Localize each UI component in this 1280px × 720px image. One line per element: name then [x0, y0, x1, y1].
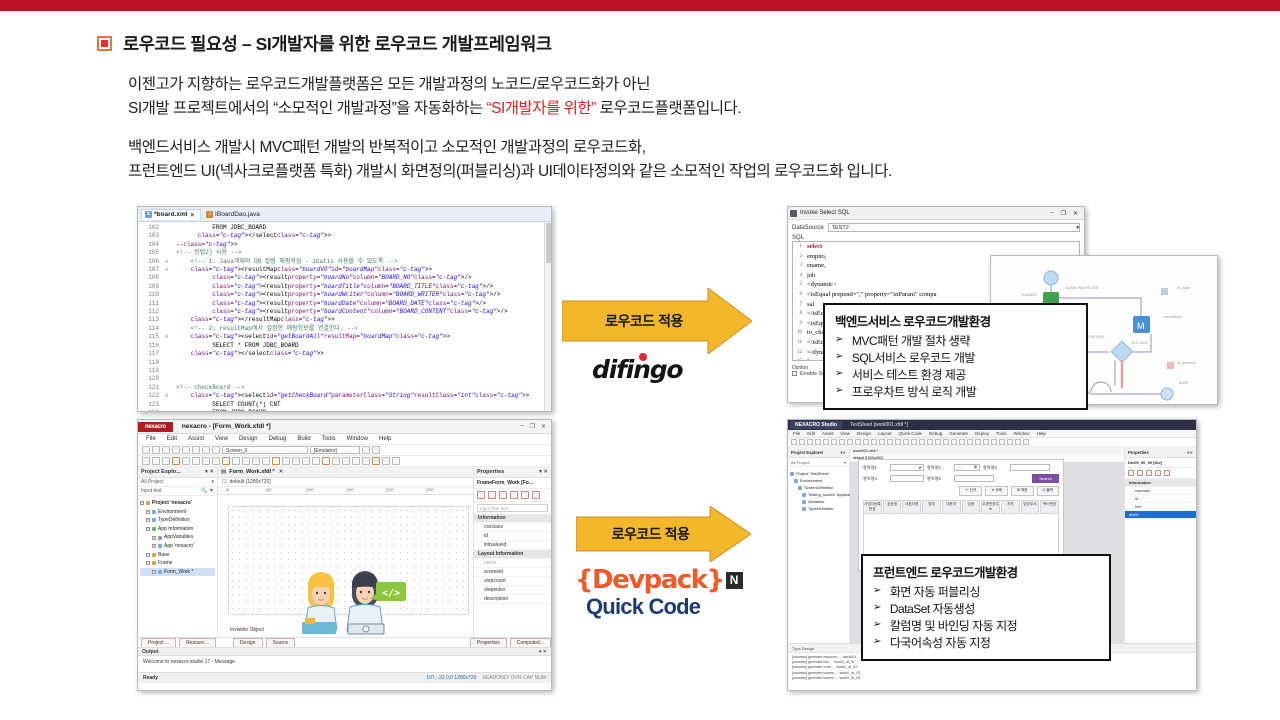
arrow-bullet-icon: ➢ — [835, 367, 843, 384]
component-tool-icon[interactable] — [302, 457, 310, 465]
cut-icon[interactable] — [192, 446, 200, 454]
code-line: 102 FROM JDBC_BOARD — [138, 224, 551, 232]
studio-tool-icon[interactable] — [1015, 439, 1021, 445]
panel-close-icon[interactable]: ▾ ✕ — [205, 469, 214, 475]
menu-item-debug[interactable]: Debug — [269, 436, 287, 442]
callout-item: ➢프로우차트 방식 로직 개발 — [835, 384, 1076, 401]
xml-code-area[interactable]: 102 FROM JDBC_BOARD103 class="c-tag"></s… — [138, 222, 551, 412]
intro-line-2-b: 로우코드플랫폼입니다. — [596, 100, 741, 117]
nexacro-menubar[interactable]: FileEditAssistViewDesignDebugBuildToolsW… — [138, 434, 551, 445]
studio-tool-icon[interactable] — [815, 439, 821, 445]
project-explorer-header: Project Explo... ▾ ✕ — [138, 467, 217, 478]
studio-tool-icon[interactable] — [951, 439, 957, 445]
ruler-mark: |150 — [346, 487, 354, 492]
studio-properties-header: Properties▾✕ — [1125, 447, 1196, 458]
devpack-n-badge: N — [726, 572, 743, 589]
paste-icon[interactable] — [212, 446, 220, 454]
callout-item: ➢다국어속성 자동 지정 — [873, 635, 1099, 652]
property-row[interactable]: screenid — [474, 568, 551, 577]
studio-property-row[interactable]: Information — [1125, 479, 1196, 487]
tab-type-design[interactable]: Type Design — [792, 646, 814, 651]
studio-tool-icon[interactable] — [887, 439, 893, 445]
svg-text:BASE: BASE — [1179, 381, 1189, 385]
delete-icon[interactable] — [532, 491, 540, 499]
tree-item-label: Base — [158, 551, 169, 560]
property-group[interactable]: Information — [474, 514, 551, 523]
chevron-down-icon: ▾ — [844, 458, 846, 466]
editor-scrollbar[interactable] — [544, 222, 551, 412]
tree-item[interactable]: +App 'nexacro' — [140, 542, 215, 551]
form-row-1: 항목명1 ▾ 항목명2 -･-▥ 항목명3 — [863, 464, 1059, 471]
component-tool-icon[interactable] — [382, 457, 390, 465]
form-action-button[interactable]: ✕ 삭제 — [985, 486, 1008, 496]
frontend-callout-title: 프런트엔드 로우코드개발환경 — [873, 562, 1099, 581]
studio-properties-list[interactable]: Informationcssclassidtextdiv00 — [1125, 479, 1196, 519]
editor-tab-label: IBoardDao.java — [215, 211, 260, 218]
redo-icon[interactable] — [182, 446, 190, 454]
copy-icon[interactable] — [510, 491, 518, 499]
studio-tree-item[interactable]: TypeDefinition — [790, 505, 847, 512]
save-icon[interactable] — [152, 446, 160, 454]
nexacro-studio-screenshot: nexacro nexacro - [Form_Work.xfdl *] – ❐… — [137, 419, 552, 691]
studio-menu-item[interactable]: File — [793, 431, 800, 436]
studio-properties-toolbar[interactable] — [1125, 468, 1196, 479]
project-filter[interactable]: All Project▾ — [138, 478, 217, 487]
editor-tab-board-xml[interactable]: x *board.xml ✕ — [141, 209, 201, 220]
arrow-bullet-icon: ➢ — [835, 350, 843, 367]
studio-tool-icon[interactable] — [895, 439, 901, 445]
nexacro-toolbar-1[interactable]: Screen_0 [Emulator] — [138, 445, 551, 456]
property-row[interactable]: cssclass — [474, 523, 551, 532]
nexacro-window-title: nexacro - [Form_Work.xfdl *] — [182, 423, 271, 430]
ruler-mark: |50 — [266, 487, 272, 492]
screen-combo[interactable]: Screen_0 — [222, 446, 308, 454]
properties-panel: Properties ▾ ✕ FrameForm_Work [Fo… Input… — [473, 467, 551, 637]
panel-close-icon[interactable]: ▾✕ — [1187, 450, 1193, 455]
code-line: 118 — [138, 359, 551, 367]
lowcode-arrow-top: 로우코드 적용 — [562, 288, 752, 354]
tab-properties[interactable]: Properties — [470, 638, 507, 647]
studio-menu-item[interactable]: View — [840, 431, 850, 436]
code-line: 112 class="c-tag"><result property="boar… — [138, 308, 551, 316]
grid-column-header[interactable]: 담당부서 — [1021, 500, 1040, 514]
studio-tool-icon[interactable] — [823, 439, 829, 445]
difingo-wordmark: difingo — [592, 355, 682, 384]
studio-tool-icon[interactable] — [1023, 439, 1029, 445]
component-tool-icon[interactable] — [192, 457, 200, 465]
component-tool-icon[interactable] — [292, 457, 300, 465]
layout-icon[interactable] — [499, 491, 507, 499]
status-bar: Ready 107, -22 0,0 1280x720 READONLY OVR… — [138, 672, 551, 683]
property-row[interactable]: stepindex — [474, 586, 551, 595]
datasource-select[interactable]: TEST2 ▾ — [828, 223, 1080, 232]
ruler-mark: |200 — [386, 487, 394, 492]
svg-text:userAttribute: userAttribute — [1163, 315, 1182, 319]
code-line: 105 <!-- 방법2) 사용 --> — [138, 249, 551, 257]
tab-computed[interactable]: Computed... — [510, 638, 551, 647]
form-icon: ▤ — [221, 469, 226, 475]
code-line: 119 — [138, 367, 551, 375]
ruler-mark: |250 — [426, 487, 434, 492]
tree-item[interactable]: +App Information — [140, 525, 215, 534]
zoom-icon[interactable] — [372, 446, 380, 454]
properties-list[interactable]: InformationcssclassidinitvalueidLayout I… — [474, 514, 551, 604]
component-tool-icon[interactable] — [282, 457, 290, 465]
studio-property-row[interactable]: cssclass — [1125, 487, 1196, 495]
component-tool-icon[interactable] — [202, 457, 210, 465]
component-tool-icon[interactable] — [372, 457, 380, 465]
properties-toolbar[interactable] — [474, 489, 551, 502]
studio-tool-icon[interactable] — [927, 439, 933, 445]
intro-line-2: SI개발 프로젝트에서의 “소모적인 개발과정”을 자동화하는 “SI개발자를 … — [128, 97, 741, 121]
studio-tool-icon[interactable] — [919, 439, 925, 445]
component-tool-icon[interactable] — [222, 457, 230, 465]
studio-tool-icon[interactable] — [943, 439, 949, 445]
code-line: 109 class="c-tag"><result property="boar… — [138, 283, 551, 291]
studio-tool-icon[interactable] — [991, 439, 997, 445]
window-controls[interactable]: – ❐ ✕ — [520, 423, 551, 430]
sort-alpha-icon[interactable] — [488, 491, 496, 499]
tree-item-label: App 'nexacro' — [164, 542, 194, 551]
studio-tool-icon[interactable] — [903, 439, 909, 445]
grid-column-header[interactable]: 사업자등록번호 — [863, 500, 882, 514]
tab-close-icon[interactable]: ✕ — [190, 211, 195, 219]
svg-text:IN_base: IN_base — [1177, 286, 1190, 290]
tree-item-label: AppVariables — [164, 533, 193, 542]
studio-logo: NEXACRO Studio — [790, 421, 842, 429]
studio-tool-icon[interactable] — [999, 439, 1005, 445]
reset-icon[interactable] — [521, 491, 529, 499]
component-tool-icon[interactable] — [252, 457, 260, 465]
studio-tool-icon[interactable] — [983, 439, 989, 445]
backend-callout-list: ➢MVC패턴 개발 절차 생략➢SQL서비스 로우코드 개발➢서비스 테스트 환… — [835, 333, 1076, 401]
chevron-down-icon: ▾ — [211, 478, 214, 486]
studio-tool-icon[interactable] — [799, 439, 805, 445]
grid-column-header[interactable]: 대표자 — [942, 500, 961, 514]
callout-item-label: 다국어속성 자동 지정 — [890, 635, 991, 652]
property-group[interactable]: Layout Information — [474, 550, 551, 559]
maximize-icon[interactable]: ❐ — [530, 423, 535, 430]
menu-item-design[interactable]: Design — [239, 436, 258, 442]
svg-text:</>: </> — [382, 588, 400, 599]
tree-item[interactable]: +Environment — [140, 508, 215, 517]
project-tree[interactable]: +Project 'nexacro'+Environment+TypeDefin… — [138, 496, 217, 579]
grid-column-header[interactable]: 지역 — [1001, 500, 1020, 514]
field-date[interactable]: -･-▥ — [954, 464, 980, 471]
form-action-button[interactable]: 🖫 저장 — [1011, 486, 1034, 496]
code-line: 108 class="c-tag"><result property="boar… — [138, 274, 551, 282]
code-line: 122⊖ class="c-tag"><select id="getCheckB… — [138, 392, 551, 400]
grid-column-header[interactable]: 대표자명 — [902, 500, 921, 514]
property-row[interactable]: name — [474, 559, 551, 568]
canvas-tab[interactable]: ▤ Form_Work.xfdl * ✕ — [218, 467, 473, 478]
code-line: 113 class="c-tag"></resultMapclass="c-ta… — [138, 316, 551, 324]
code-line: 121 <!-- checkBoard --> — [138, 384, 551, 392]
field-label: 항목명2 — [927, 465, 951, 471]
studio-tool-icon[interactable] — [935, 439, 941, 445]
studio-menu-item[interactable]: Generate — [949, 431, 968, 436]
studio-canvas-tab[interactable]: work001.xfdl * — [850, 447, 1124, 455]
component-tool-icon[interactable] — [342, 457, 350, 465]
field-label: 항목명5 — [927, 476, 951, 482]
svg-text:PLANNED: PLANNED — [1021, 293, 1038, 297]
grid-column-header[interactable]: 업종 — [962, 500, 981, 514]
copy-icon[interactable] — [1155, 470, 1161, 476]
code-line: 107⊖ class="c-tag"><resultMap class="boa… — [138, 266, 551, 274]
studio-menu-item[interactable]: Debug — [929, 431, 942, 436]
editor-tab-iboarddao-java[interactable]: J IBoardDao.java — [203, 210, 265, 219]
panel-close-icon[interactable]: ▾✕ — [840, 450, 846, 455]
emulator-combo[interactable]: [Emulator] — [310, 446, 360, 454]
property-row[interactable]: id — [474, 532, 551, 541]
studio-property-value[interactable]: div00 — [1125, 511, 1196, 519]
code-line: 124 FROM JDBC_BOARD — [138, 409, 551, 412]
studio-tool-icon[interactable] — [855, 439, 861, 445]
studio-tool-icon[interactable] — [807, 439, 813, 445]
close-icon[interactable]: ✕ — [541, 423, 546, 430]
detail-paragraph: 백엔드서비스 개발시 MVC패턴 개발의 반복적이고 소모적인 개발과정의 로우… — [128, 136, 892, 184]
component-tool-icon[interactable] — [392, 457, 400, 465]
component-tool-icon[interactable] — [142, 457, 150, 465]
tab-resource[interactable]: Resourc... — [179, 638, 216, 647]
data-grid-header: 사업자등록번호상호명대표자명업태대표자업종우편번호주소지역담당부서팩스번호 — [863, 500, 1059, 514]
studio-menu-item[interactable]: Deploy — [975, 431, 989, 436]
callout-item: ➢SQL서비스 로우코드 개발 — [835, 350, 1076, 367]
intro-paragraph: 이젠고가 지향하는 로우코드개발플랫폼은 모든 개발과정의 노코드/로우코드화가… — [128, 73, 741, 121]
layout-icon[interactable] — [1146, 470, 1152, 476]
devpack-logo: {Devpack} N — [575, 565, 743, 595]
studio-window-title: TestSheet [work001.xfdl *] — [850, 422, 908, 428]
form-action-button[interactable]: ⎙ 출력 — [1037, 486, 1060, 496]
menu-item-build[interactable]: Build — [297, 436, 310, 442]
callout-item-label: SQL서비스 로우코드 개발 — [852, 350, 975, 367]
menu-item-view[interactable]: View — [215, 436, 228, 442]
code-line: 103 class="c-tag"></selectclass="c-tag">… — [138, 232, 551, 240]
component-tool-icon[interactable] — [352, 457, 360, 465]
studio-menu-item[interactable]: Window — [1014, 431, 1030, 436]
grid-column-header[interactable]: 우편번호주소 — [981, 500, 1000, 514]
arrow-bullet-icon: ➢ — [835, 333, 843, 350]
menu-item-help[interactable]: Help — [379, 436, 391, 442]
properties-title: Properties — [477, 469, 504, 475]
studio-property-row[interactable]: id — [1125, 495, 1196, 503]
status-coordinates: 107, -22 0,0 1280x720 — [426, 675, 476, 681]
tree-item[interactable]: +Form_Work * — [140, 568, 215, 577]
callout-item: ➢칼럼명 및 바인딩 자동 지정 — [873, 618, 1099, 635]
component-tool-icon[interactable] — [312, 457, 320, 465]
menu-item-edit[interactable]: Edit — [167, 436, 177, 442]
undo-icon[interactable] — [172, 446, 180, 454]
form-action-buttons[interactable]: ＋ 신규✕ 삭제🖫 저장⎙ 출력 — [863, 486, 1059, 496]
intro-line-1: 이젠고가 지향하는 로우코드개발플랫폼은 모든 개발과정의 노코드/로우코드화가… — [128, 73, 741, 97]
menu-item-file[interactable]: File — [146, 436, 156, 442]
sort-category-icon[interactable] — [477, 491, 485, 499]
open-icon[interactable] — [142, 446, 150, 454]
studio-tool-icon[interactable] — [839, 439, 845, 445]
field-text[interactable] — [954, 475, 994, 482]
studio-tool-icon[interactable] — [1007, 439, 1013, 445]
code-line: 120 — [138, 375, 551, 383]
invisible-object-label: Invisible Object — [230, 627, 264, 633]
studio-titlebar: NEXACRO Studio TestSheet [work001.xfdl *… — [788, 420, 1196, 430]
code-line: 115⊖ class="c-tag"><select id="getBoardA… — [138, 333, 551, 341]
component-tool-icon[interactable] — [212, 457, 220, 465]
studio-tool-icon[interactable] — [791, 439, 797, 445]
component-tool-icon[interactable] — [182, 457, 190, 465]
studio-menu-item[interactable]: Design — [857, 431, 871, 436]
properties-header: Properties ▾ ✕ — [474, 467, 551, 478]
project-search-input[interactable]: Input text🔍 ▼ — [138, 487, 217, 496]
field-label: 항목명3 — [983, 465, 1007, 471]
component-tool-icon[interactable] — [362, 457, 370, 465]
component-tool-icon[interactable] — [322, 457, 330, 465]
ruler-mark: |0 — [226, 487, 229, 492]
output-panel-header: Output ▾ ✕ — [138, 647, 551, 656]
search-button[interactable]: Search — [1032, 474, 1059, 483]
tree-item[interactable]: +Frame — [140, 559, 215, 568]
arrow-bullet-icon: ➢ — [835, 384, 843, 401]
backend-callout: 백엔드서비스 로우코드개발환경 ➢MVC패턴 개발 절차 생략➢SQL서비스 로… — [823, 303, 1088, 410]
studio-project-explorer: Project Explorer▾✕ All Project▾ Project … — [788, 447, 850, 643]
maximize-icon[interactable]: ❐ — [1061, 210, 1066, 217]
studio-menu-item[interactable]: Tools — [996, 431, 1007, 436]
tree-item[interactable]: +AppVariables — [140, 533, 215, 542]
nexacro-toolbar-2[interactable] — [138, 456, 551, 467]
studio-menu-item[interactable]: Edit — [807, 431, 815, 436]
grid-column-header[interactable]: 상호명 — [883, 500, 902, 514]
component-tool-icon[interactable] — [152, 457, 160, 465]
field-text[interactable] — [890, 475, 924, 482]
tab-design[interactable]: Design — [233, 638, 263, 647]
property-row[interactable]: stepcount — [474, 577, 551, 586]
sort-alpha-icon[interactable] — [1137, 470, 1143, 476]
menu-item-assist[interactable]: Assist — [188, 436, 204, 442]
studio-tool-icon[interactable] — [967, 439, 973, 445]
code-line: 104 --class="c-tag">> — [138, 241, 551, 249]
code-line: 117 class="c-tag"></selectclass="c-tag">… — [138, 350, 551, 358]
grid-column-header[interactable]: 팩스번호 — [1040, 500, 1059, 514]
studio-toolbar[interactable] — [788, 438, 1196, 447]
property-row[interactable]: initvalueid — [474, 541, 551, 550]
sort-category-icon[interactable] — [1128, 470, 1134, 476]
studio-tool-icon[interactable] — [871, 439, 877, 445]
component-tool-icon[interactable] — [232, 457, 240, 465]
arrow-bullet-icon: ➢ — [873, 618, 881, 635]
field-text[interactable] — [1010, 464, 1050, 471]
studio-tree-item[interactable]: Testing_screen 'Application_Dev' — [790, 491, 847, 498]
callout-item-label: 서비스 테스트 환경 제공 — [852, 367, 966, 384]
arrow-bullet-icon: ➢ — [873, 601, 881, 618]
studio-tree-item[interactable]: ScreenDefinition — [790, 484, 847, 491]
studio-project-filter[interactable]: All Project▾ — [788, 458, 849, 467]
panel-close-icon[interactable]: ▾ ✕ — [539, 469, 548, 475]
studio-tree-item[interactable]: Project 'TestSheet' — [790, 470, 847, 477]
app-icon — [790, 210, 797, 217]
studio-project-tree[interactable]: Project 'TestSheet'EnvironmentScreenDefi… — [788, 467, 849, 515]
component-tool-icon[interactable] — [172, 457, 180, 465]
studio-tool-icon[interactable] — [959, 439, 965, 445]
callout-item-label: 칼럼명 및 바인딩 자동 지정 — [890, 618, 1017, 635]
callout-item-label: 프로우차트 방식 로직 개발 — [852, 384, 976, 401]
svg-text:ADMIN PATHFILIJDE: ADMIN PATHFILIJDE — [1066, 286, 1099, 290]
calendar-icon: ▥ — [974, 465, 977, 470]
reset-icon[interactable] — [1164, 470, 1170, 476]
form-action-button[interactable]: ＋ 신규 — [959, 486, 982, 496]
field-select[interactable]: ▾ — [890, 464, 924, 471]
menu-item-tools[interactable]: Tools — [322, 436, 336, 442]
studio-menu-item[interactable]: Layout — [878, 431, 892, 436]
callout-item: ➢화면 자동 퍼블리싱 — [873, 584, 1099, 601]
component-tool-icon[interactable] — [272, 457, 280, 465]
studio-tool-icon[interactable] — [975, 439, 981, 445]
ruler-mark: |100 — [306, 487, 314, 492]
tab-close-icon[interactable]: ✕ — [279, 469, 284, 475]
panel-close-icon[interactable]: ▾ ✕ — [539, 648, 547, 655]
studio-tool-icon[interactable] — [847, 439, 853, 445]
tree-item[interactable]: +Project 'nexacro' — [140, 499, 215, 508]
studio-menu-item[interactable]: Quick Code — [899, 431, 923, 436]
studio-menu-item[interactable]: Help — [1037, 431, 1046, 436]
studio-tool-icon[interactable] — [879, 439, 885, 445]
status-ready: Ready — [143, 675, 158, 681]
studio-tool-icon[interactable] — [831, 439, 837, 445]
editor-tab-label: *board.xml — [154, 211, 188, 218]
difingo-dot-icon — [639, 353, 647, 361]
studio-menubar[interactable]: FileEditAssetViewDesignLayoutQuick CodeD… — [788, 430, 1196, 438]
component-tool-icon[interactable] — [332, 457, 340, 465]
studio-tool-icon[interactable] — [863, 439, 869, 445]
illustration-woman — [302, 572, 337, 634]
code-line: 106⊖ <!-- 1. Java객체와 DB 칼럼 매핑작업 - ibatis… — [138, 258, 551, 266]
studio-menu-item[interactable]: Asset — [822, 431, 833, 436]
tree-item-label: Form_Work * — [164, 568, 193, 577]
tree-item[interactable]: +Base — [140, 551, 215, 560]
studio-tree-item[interactable]: Environment — [790, 477, 847, 484]
minimize-icon[interactable]: – — [520, 423, 523, 430]
run-icon[interactable] — [362, 446, 370, 454]
sql-dialog-title: Invoke Select SQL — [800, 210, 1050, 216]
window-controls[interactable]: – ❐ ✕ — [1050, 210, 1082, 217]
search-icon: 🔍 ▼ — [201, 487, 214, 495]
component-tool-icon[interactable] — [262, 457, 270, 465]
detail-line-1: 백엔드서비스 개발시 MVC패턴 개발의 반복적이고 소모적인 개발과정의 로우… — [128, 136, 892, 160]
close-icon[interactable]: ✕ — [1073, 210, 1078, 217]
property-row[interactable]: description — [474, 595, 551, 604]
minimize-icon[interactable]: – — [1050, 210, 1053, 217]
svg-text:ARC DATA: ARC DATA — [1131, 341, 1148, 345]
arrow-bullet-icon: ➢ — [873, 635, 881, 652]
datasource-row: DataSource TEST2 ▾ — [788, 220, 1084, 235]
developers-illustration: </> — [272, 560, 412, 642]
checkbox-icon[interactable]: ☐ — [222, 479, 226, 485]
callout-item: ➢서비스 테스트 환경 제공 — [835, 367, 1076, 384]
studio-tool-icon[interactable] — [911, 439, 917, 445]
component-tool-icon[interactable] — [162, 457, 170, 465]
copy-icon[interactable] — [202, 446, 210, 454]
component-tool-icon[interactable] — [242, 457, 250, 465]
menu-item-window[interactable]: Window — [347, 436, 368, 442]
studio-tree-item[interactable]: Variables — [790, 498, 847, 505]
properties-filter-input[interactable]: Input filter text — [477, 504, 548, 512]
studio-property-row[interactable]: text — [1125, 503, 1196, 511]
code-line: 110 class="c-tag"><result property="boar… — [138, 291, 551, 299]
canvas-ruler: |0|50|100|150|200|250 — [218, 487, 473, 495]
grid-column-header[interactable]: 업태 — [922, 500, 941, 514]
tab-project[interactable]: Project ... — [141, 638, 176, 647]
tree-item[interactable]: +TypeDefinition — [140, 516, 215, 525]
callout-item-label: DataSet 자동생성 — [890, 601, 975, 618]
new-icon[interactable] — [162, 446, 170, 454]
